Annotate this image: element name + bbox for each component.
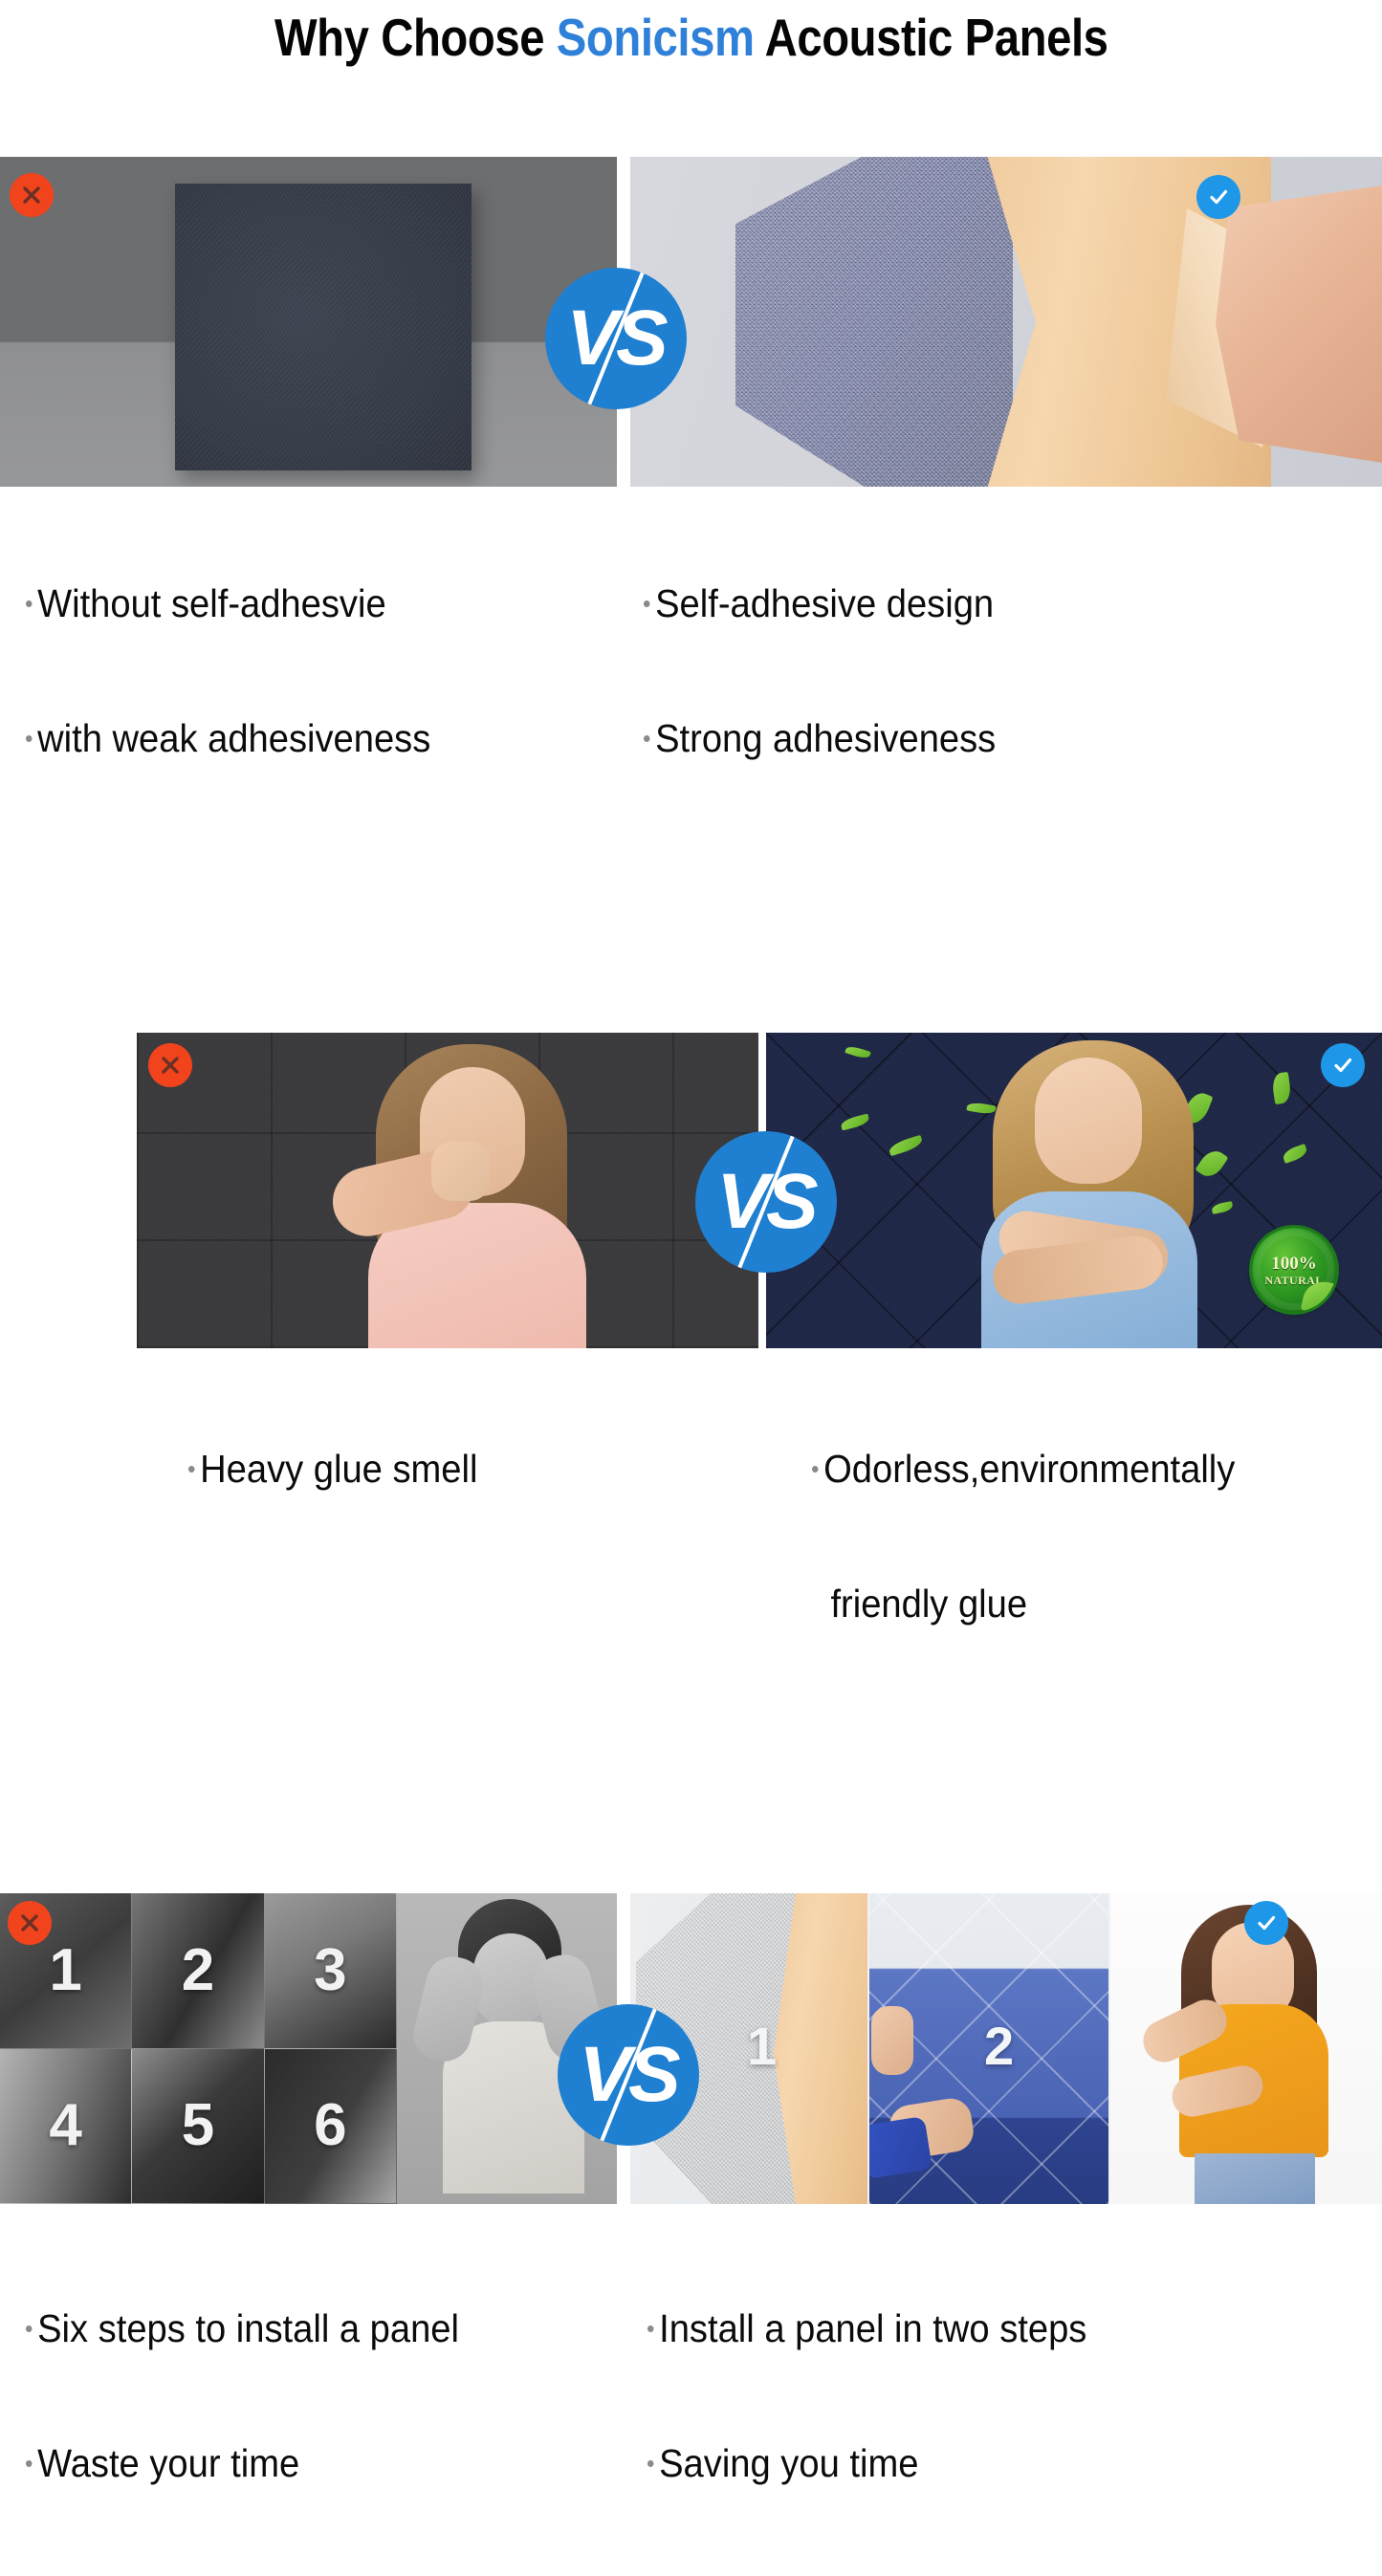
row1-negative-image	[0, 157, 617, 487]
row1-positive-image	[630, 157, 1382, 487]
step-number: 2	[182, 1941, 214, 2000]
row3-positive-image: 1 2	[630, 1893, 1382, 2204]
vs-badge: VS	[558, 2004, 699, 2146]
comparison-row-adhesive: VS •Without self-adhesvie •with weak adh…	[0, 75, 1382, 510]
collage-step: 6	[265, 2049, 397, 2205]
row3-negative-caption: •Six steps to install a panel •Waste you…	[25, 2216, 459, 2576]
step-number: 6	[314, 2096, 346, 2155]
bullet-icon: •	[25, 2449, 37, 2478]
page-title: Why Choose Sonicism Acoustic Panels	[274, 9, 1108, 66]
brand-name: Sonicism	[557, 8, 755, 67]
install-step-2-image: 2	[869, 1893, 1108, 2204]
bullet-icon: •	[811, 1454, 823, 1483]
caption-line: Heavy glue smell	[200, 1447, 477, 1491]
sleeve-art	[869, 2116, 932, 2179]
x-circle-icon	[8, 1901, 52, 1945]
check-circle-icon	[1196, 175, 1240, 219]
excited-woman-image	[1110, 1893, 1382, 2204]
hand-art	[1216, 186, 1382, 463]
bullet-icon: •	[187, 1454, 200, 1483]
step-number: 5	[182, 2096, 214, 2155]
page-title-bar: Why Choose Sonicism Acoustic Panels	[0, 0, 1382, 75]
caption-line: Waste your time	[37, 2441, 299, 2485]
caption-line: friendly glue	[830, 1582, 1027, 1626]
check-circle-icon	[1244, 1901, 1288, 1945]
row3-negative-image: 1 2 3 4 5 6	[0, 1893, 617, 2204]
step-number: 2	[984, 2019, 1014, 2073]
step-number: 1	[49, 1941, 81, 2000]
caption-line: Install a panel in two steps	[659, 2306, 1086, 2350]
step-number: 4	[49, 2096, 81, 2155]
felt-panel-art	[175, 184, 472, 470]
check-circle-icon	[1321, 1043, 1365, 1087]
comparison-row-odor: 100% NATURAL VS •Heavy glue smell •Odorl…	[0, 510, 1382, 945]
collage-step: 4	[0, 2049, 132, 2205]
bullet-icon: •	[647, 2449, 659, 2478]
collage-step: 5	[132, 2049, 264, 2205]
x-circle-icon	[10, 173, 54, 217]
row2-negative-caption: •Heavy glue smell	[187, 1357, 477, 1582]
bullet-icon: •	[25, 2314, 37, 2343]
page-title-part2: Acoustic Panels	[754, 8, 1108, 67]
jeans-art	[1195, 2153, 1315, 2204]
page-title-part1: Why Choose	[274, 8, 557, 67]
step-number: 3	[314, 1941, 346, 2000]
row2-positive-caption: •Odorless,environmentally friendly glue	[811, 1357, 1235, 1716]
x-circle-icon	[148, 1043, 192, 1087]
excited-woman-art	[1156, 1897, 1348, 2204]
six-step-collage: 1 2 3 4 5 6	[0, 1893, 397, 2204]
collage-step: 3	[265, 1893, 397, 2049]
bullet-icon: •	[647, 2314, 659, 2343]
caption-line: Six steps to install a panel	[37, 2306, 459, 2350]
caption-line: Saving you time	[659, 2441, 918, 2485]
row3-positive-caption: •Install a panel in two steps •Saving yo…	[647, 2216, 1086, 2576]
adhesive-panel-art	[735, 157, 1013, 487]
vs-badge: VS	[695, 1131, 837, 1273]
comparison-row-installation: 1 2 3 4 5 6	[0, 945, 1382, 1365]
collage-step: 2	[132, 1893, 264, 2049]
vs-badge: VS	[545, 268, 687, 409]
step-number: 1	[747, 2019, 777, 2073]
caption-line: Odorless,environmentally	[823, 1447, 1235, 1491]
hand-art	[871, 2006, 913, 2075]
